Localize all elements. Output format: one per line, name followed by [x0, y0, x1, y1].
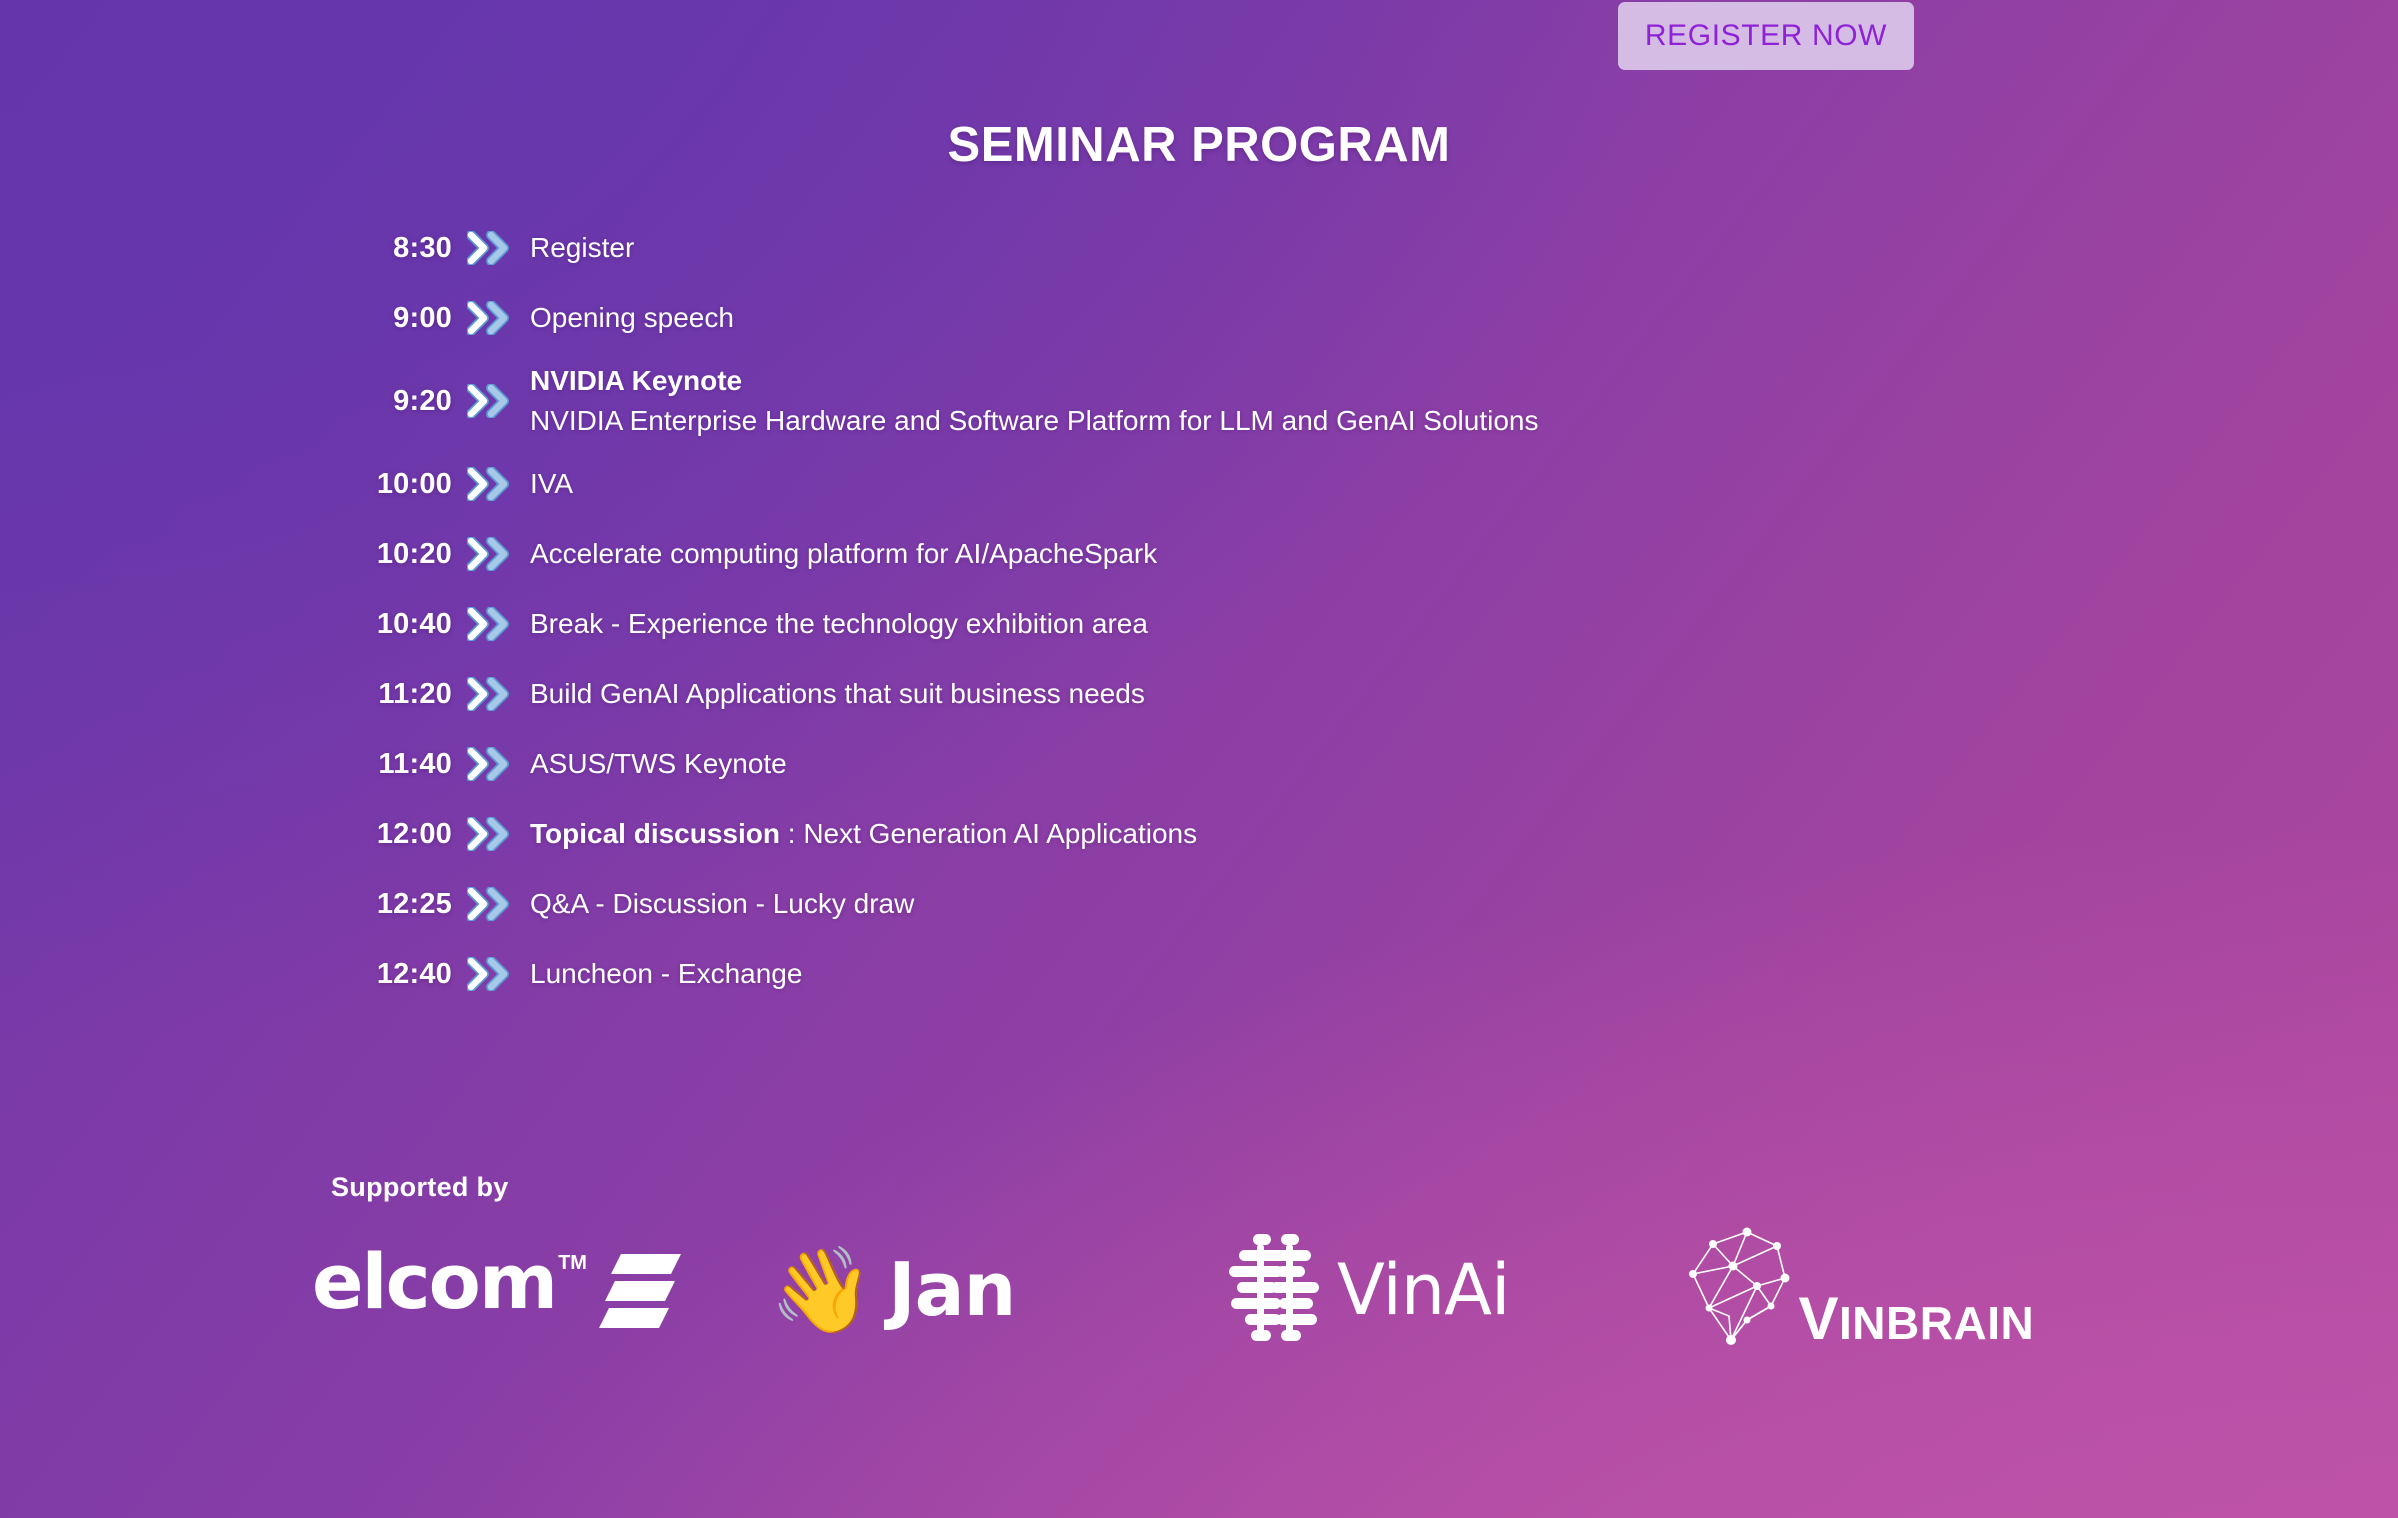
double-chevron-icon — [452, 607, 528, 641]
schedule-row: 10:20Accelerate computing platform for A… — [330, 519, 2030, 589]
vinbrain-wordmark: VINBRAIN — [1799, 1284, 2035, 1353]
vinai-circuit-icon — [1227, 1232, 1323, 1349]
sponsor-logo-vinbrain[interactable]: VINBRAIN — [1673, 1215, 2131, 1365]
elcom-tm-mark: TM — [558, 1252, 587, 1275]
vinai-wordmark: VinAi — [1337, 1249, 1510, 1331]
schedule-event-title: NVIDIA Keynote — [530, 361, 1538, 401]
schedule-event-title: Q&A - Discussion - Lucky draw — [530, 888, 914, 919]
schedule-event: Break - Experience the technology exhibi… — [528, 604, 1148, 644]
schedule-event-title: Build GenAI Applications that suit busin… — [530, 678, 1145, 709]
schedule-time: 10:20 — [330, 538, 452, 571]
double-chevron-icon — [452, 887, 528, 921]
schedule-row: 9:20NVIDIA KeynoteNVIDIA Enterprise Hard… — [330, 353, 2030, 449]
double-chevron-icon — [452, 957, 528, 991]
schedule-time: 12:40 — [330, 958, 452, 991]
schedule-event: Register — [528, 228, 634, 268]
double-chevron-icon — [452, 384, 528, 418]
schedule-event: Accelerate computing platform for AI/Apa… — [528, 534, 1157, 574]
schedule-time: 12:25 — [330, 888, 452, 921]
schedule-event-title: Opening speech — [530, 302, 734, 333]
schedule-row: 9:00Opening speech — [330, 283, 2030, 353]
elcom-e-icon — [597, 1252, 683, 1335]
register-now-button[interactable]: REGISTER NOW — [1618, 2, 1914, 70]
schedule-row: 10:40Break - Experience the technology e… — [330, 589, 2030, 659]
schedule-event: Opening speech — [528, 298, 734, 338]
schedule-event: ASUS/TWS Keynote — [528, 744, 787, 784]
double-chevron-icon — [452, 231, 528, 265]
schedule-row: 8:30Register — [330, 213, 2030, 283]
schedule-event-title: Luncheon - Exchange — [530, 958, 802, 989]
schedule-event: Q&A - Discussion - Lucky draw — [528, 884, 914, 924]
schedule-event-title: Register — [530, 232, 634, 263]
schedule-time: 10:40 — [330, 608, 452, 641]
schedule-event: Luncheon - Exchange — [528, 954, 802, 994]
schedule-row: 12:40Luncheon - Exchange — [330, 939, 2030, 1009]
schedule-event-title: : Next Generation AI Applications — [780, 818, 1197, 849]
schedule-row: 11:40ASUS/TWS Keynote — [330, 729, 2030, 799]
schedule-time: 8:30 — [330, 232, 452, 265]
waving-hand-icon: 👋 — [770, 1248, 875, 1332]
double-chevron-icon — [452, 301, 528, 335]
double-chevron-icon — [452, 467, 528, 501]
schedule-time: 10:00 — [330, 468, 452, 501]
schedule-row: 11:20Build GenAI Applications that suit … — [330, 659, 2030, 729]
double-chevron-icon — [452, 537, 528, 571]
schedule-event-title-bold: Topical discussion — [530, 818, 780, 849]
schedule-time: 12:00 — [330, 818, 452, 851]
seminar-schedule-list: 8:30Register9:00Opening speech9:20NVIDIA… — [330, 213, 2030, 1009]
schedule-event-title: ASUS/TWS Keynote — [530, 748, 787, 779]
schedule-event-title: IVA — [530, 468, 573, 499]
schedule-time: 9:20 — [330, 385, 452, 418]
schedule-row: 10:00IVA — [330, 449, 2030, 519]
schedule-time: 9:00 — [330, 302, 452, 335]
schedule-event: Topical discussion : Next Generation AI … — [528, 814, 1197, 854]
brain-network-icon — [1685, 1224, 1813, 1357]
schedule-event-title: Accelerate computing platform for AI/Apa… — [530, 538, 1157, 569]
schedule-event: IVA — [528, 464, 573, 504]
seminar-program-page: { "header": { "register_label": "REGISTE… — [0, 0, 2398, 1518]
schedule-event: Build GenAI Applications that suit busin… — [528, 674, 1145, 714]
jan-wordmark: Jan — [888, 1247, 1015, 1333]
double-chevron-icon — [452, 747, 528, 781]
elcom-wordmark: elcom — [312, 1246, 556, 1318]
schedule-event: NVIDIA KeynoteNVIDIA Enterprise Hardware… — [528, 361, 1538, 441]
double-chevron-icon — [452, 817, 528, 851]
supported-by-label: Supported by — [331, 1172, 509, 1203]
schedule-row: 12:25Q&A - Discussion - Lucky draw — [330, 869, 2030, 939]
schedule-event-title: Break - Experience the technology exhibi… — [530, 608, 1148, 639]
sponsor-logo-elcom[interactable]: elcom TM — [300, 1215, 758, 1365]
double-chevron-icon — [452, 677, 528, 711]
sponsor-logo-jan[interactable]: 👋 Jan — [758, 1215, 1216, 1365]
schedule-time: 11:40 — [330, 748, 452, 781]
page-title: SEMINAR PROGRAM — [0, 117, 2398, 173]
sponsor-logo-row: elcom TM 👋 Jan — [300, 1215, 2130, 1365]
sponsor-logo-vinai[interactable]: VinAi — [1215, 1215, 1673, 1365]
schedule-row: 12:00Topical discussion : Next Generatio… — [330, 799, 2030, 869]
vinbrain-rest: INBRAIN — [1839, 1297, 2034, 1349]
schedule-event-subtitle: NVIDIA Enterprise Hardware and Software … — [530, 401, 1538, 441]
vinbrain-initial: V — [1799, 1285, 1840, 1352]
schedule-time: 11:20 — [330, 678, 452, 711]
